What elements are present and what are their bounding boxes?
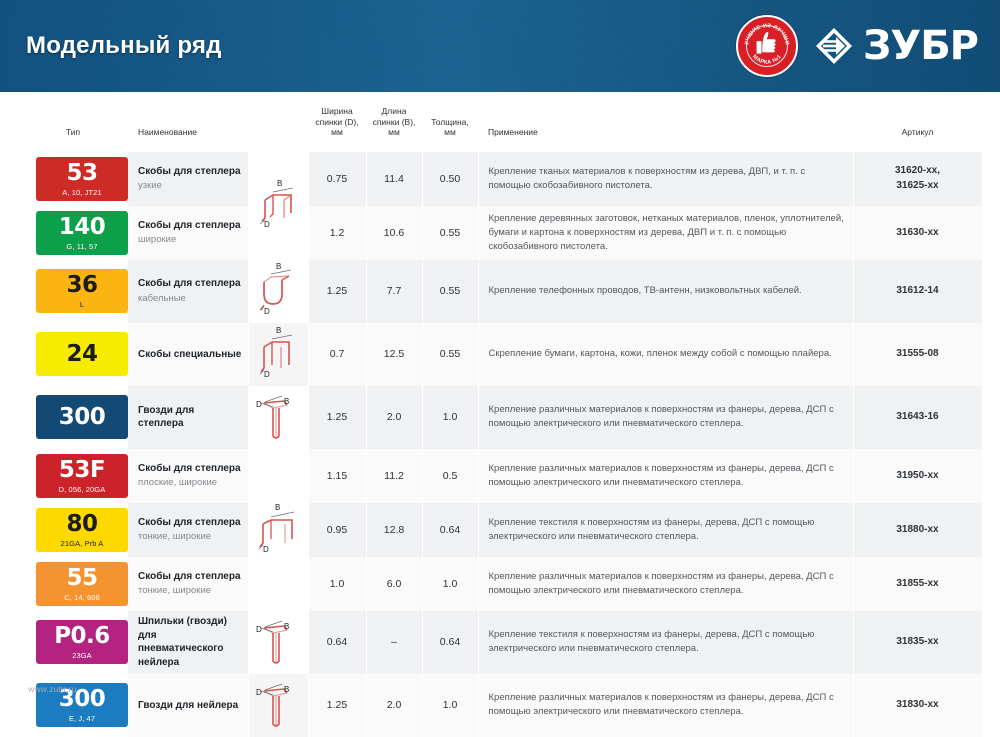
cell-article: 31612-14 [853, 260, 982, 323]
product-name-sub: тонкие, широкие [138, 531, 242, 543]
product-name-sub: плоские, широкие [138, 477, 242, 489]
svg-text:B: B [277, 179, 282, 188]
product-name: Скобы для степлера [138, 570, 242, 584]
cell-article: 31643-16 [853, 386, 982, 449]
cell-width: 0.75 [308, 152, 366, 206]
nail-t-icon: BD [248, 386, 308, 449]
type-badge-sub: 21GA, Prb A [61, 540, 104, 548]
cell-article: 31630-хх [853, 206, 982, 260]
type-badge-code: P0.6 [54, 625, 110, 648]
svg-text:D: D [256, 625, 262, 634]
cell-thickness: 0.55 [422, 260, 478, 323]
cell-thickness: 0.5 [422, 449, 478, 503]
cell-length: 10.6 [366, 206, 422, 260]
cell-article: 31950-хх [853, 449, 982, 503]
brand-name: ЗУБР [863, 26, 978, 66]
cell-type: 53A, 10, JT21 [18, 152, 128, 206]
cell-type: 8021GA, Prb A [18, 503, 128, 557]
product-name: Скобы для степлера [138, 219, 242, 233]
cell-length: 12.5 [366, 323, 422, 386]
brand-logo: ЛУЧШИЕ ИЗ ЛУЧШИХ МАРКА №1 [736, 15, 978, 77]
cell-application: Крепление телефонных проводов, ТВ-антенн… [478, 260, 853, 323]
svg-text:B: B [276, 326, 281, 335]
col-header-type: Тип [18, 98, 128, 152]
type-badge-sub: 23GA [72, 652, 92, 660]
svg-text:D: D [256, 400, 262, 409]
col-header-application: Применение [478, 98, 853, 152]
cell-length: 11.4 [366, 152, 422, 206]
cell-article: 31555-08 [853, 323, 982, 386]
svg-text:B: B [284, 622, 289, 631]
col-header-length-line2: спинки (B), мм [373, 117, 416, 138]
type-badge-sub: C, 14, 606 [64, 594, 100, 602]
type-badge: 24 [36, 332, 128, 376]
cell-name: Скобы для степлераплоские, широкие [128, 449, 248, 503]
cell-length: 11.2 [366, 449, 422, 503]
type-badge: 36L [36, 269, 128, 313]
col-header-thickness-line2: мм [444, 127, 456, 137]
svg-text:B: B [276, 262, 281, 271]
cell-thickness: 0.50 [422, 152, 478, 206]
staple-narrow-icon: BD [248, 152, 308, 260]
cell-name: Скобы для степлераширокие [128, 206, 248, 260]
cell-application: Крепление деревянных заготовок, нетканых… [478, 206, 853, 260]
col-header-width: Ширина спинки (D), мм [308, 98, 366, 152]
type-badge-code: 140 [59, 216, 106, 239]
quality-emblem-icon: ЛУЧШИЕ ИЗ ЛУЧШИХ МАРКА №1 [736, 15, 798, 77]
arrow-diamond-icon [814, 26, 854, 66]
type-badge-sub: E, J, 47 [69, 715, 95, 723]
cell-type: 140G, 11, 57 [18, 206, 128, 260]
col-header-name: Наименование [128, 98, 308, 152]
cell-thickness: 0.64 [422, 503, 478, 557]
type-badge: 300 [36, 395, 128, 439]
cell-width: 0.95 [308, 503, 366, 557]
article-line-1: 31620-хх, [895, 165, 940, 176]
product-name-sub: широкие [138, 234, 242, 246]
cell-type: 36L [18, 260, 128, 323]
type-badge-code: 36 [66, 274, 97, 297]
product-name: Гвозди для степлера [138, 404, 242, 431]
cell-application: Крепление различных материалов к поверхн… [478, 557, 853, 611]
site-url: www.zubr.ru [28, 684, 77, 694]
type-badge-code: 300 [59, 406, 106, 429]
article-line-1: 31855-хх [896, 578, 938, 589]
svg-text:D: D [264, 220, 270, 229]
type-badge: P0.623GA [36, 620, 128, 664]
table-row: 55C, 14, 606Скобы для степлератонкие, ши… [18, 557, 982, 611]
product-name: Скобы для степлера [138, 462, 242, 476]
cell-width: 0.64 [308, 611, 366, 674]
type-badge-sub: D, 056, 20GA [59, 486, 106, 494]
svg-text:МАРКА №1: МАРКА №1 [751, 54, 783, 66]
type-badge: 55C, 14, 606 [36, 562, 128, 606]
nail-t-icon: BD [248, 611, 308, 674]
cell-application: Крепление тканых материалов к поверхност… [478, 152, 853, 206]
product-name-sub: кабельные [138, 293, 242, 305]
article-line-1: 31880-хх [896, 524, 938, 535]
article-line-1: 31835-хх [896, 636, 938, 647]
staple-special-icon: BD [248, 323, 308, 386]
article-line-1: 31630-хх [896, 227, 938, 238]
article-line-1: 31612-14 [896, 285, 938, 296]
cell-type: 300 [18, 386, 128, 449]
cell-type: 53FD, 056, 20GA [18, 449, 128, 503]
cell-type: P0.623GA [18, 611, 128, 674]
table-row: 53FD, 056, 20GAСкобы для степлераплоские… [18, 449, 982, 503]
type-badge-sub: A, 10, JT21 [62, 189, 101, 197]
staple-flat-icon: BD [248, 449, 308, 611]
staple-round-icon: BD [248, 260, 308, 323]
cell-article: 31620-хх,31625-хх [853, 152, 982, 206]
col-header-length-line1: Длина [382, 106, 407, 116]
cell-width: 1.0 [308, 557, 366, 611]
product-name: Шпильки (гвозди) для пневматического ней… [138, 615, 242, 669]
type-badge-code: 80 [66, 513, 97, 536]
col-header-thickness-line1: Толщина, [431, 117, 469, 127]
table-row: 24Скобы специальныеBD0.712.50.55Скреплен… [18, 323, 982, 386]
cell-name: Гвозди для степлера [128, 386, 248, 449]
cell-width: 1.2 [308, 206, 366, 260]
cell-width: 1.15 [308, 449, 366, 503]
table-row: 300Гвозди для степлераBD1.252.01.0Крепле… [18, 386, 982, 449]
table-row: 53A, 10, JT21Скобы для степлераузкиеBD0.… [18, 152, 982, 206]
svg-text:D: D [263, 545, 269, 554]
table-row: 8021GA, Prb AСкобы для степлератонкие, ш… [18, 503, 982, 557]
cell-width: 1.25 [308, 260, 366, 323]
product-name-sub: узкие [138, 180, 242, 192]
cell-article: 31880-хх [853, 503, 982, 557]
cell-length: 2.0 [366, 386, 422, 449]
type-badge-code: 55 [66, 567, 97, 590]
cell-length: 6.0 [366, 557, 422, 611]
cell-length: – [366, 611, 422, 674]
article-line-1: 31555-08 [896, 348, 938, 359]
table-row: 140G, 11, 57Скобы для степлераширокие1.2… [18, 206, 982, 260]
product-name: Скобы для степлера [138, 277, 242, 291]
table-header-row: Тип Наименование Ширина спинки (D), мм Д… [18, 98, 982, 152]
cell-article: 31835-хх [853, 611, 982, 674]
type-badge: 53FD, 056, 20GA [36, 454, 128, 498]
article-line-2: 31625-хх [896, 180, 938, 191]
zubr-wordmark: ЗУБР [814, 26, 978, 66]
cell-name: Скобы для степлеракабельные [128, 260, 248, 323]
cell-width: 1.25 [308, 386, 366, 449]
cell-article: 31855-хх [853, 557, 982, 611]
page-title: Модельный ряд [26, 32, 222, 60]
svg-text:D: D [264, 370, 270, 379]
col-header-thickness: Толщина, мм [422, 98, 478, 152]
type-badge-sub: G, 11, 57 [66, 243, 97, 251]
cell-name: Шпильки (гвозди) для пневматического ней… [128, 611, 248, 674]
cell-thickness: 0.55 [422, 323, 478, 386]
article-line-1: 31950-хх [896, 470, 938, 481]
product-name-sub: тонкие, широкие [138, 585, 242, 597]
svg-text:D: D [264, 307, 270, 316]
cell-application: Крепление различных материалов к поверхн… [478, 449, 853, 503]
type-badge: 8021GA, Prb A [36, 508, 128, 552]
table-row: P0.623GAШпильки (гвозди) для пневматичес… [18, 611, 982, 674]
cell-application: Крепление различных материалов к поверхн… [478, 386, 853, 449]
type-badge-code: 24 [66, 343, 97, 366]
cell-type: 24 [18, 323, 128, 386]
cell-thickness: 0.64 [422, 611, 478, 674]
type-badge-code: 53 [66, 162, 97, 185]
page-footer: www.zubr.ru [0, 666, 1000, 706]
cell-name: Скобы для степлератонкие, широкие [128, 503, 248, 557]
cell-application: Крепление текстиля к поверхностям из фан… [478, 611, 853, 674]
cell-type: 55C, 14, 606 [18, 557, 128, 611]
svg-text:B: B [284, 397, 289, 406]
article-line-1: 31643-16 [896, 411, 938, 422]
cell-length: 7.7 [366, 260, 422, 323]
cell-thickness: 0.55 [422, 206, 478, 260]
table-body: 53A, 10, JT21Скобы для степлераузкиеBD0.… [18, 152, 982, 737]
cell-name: Скобы специальные [128, 323, 248, 386]
product-name: Скобы для степлера [138, 165, 242, 179]
cell-application: Крепление текстиля к поверхностям из фан… [478, 503, 853, 557]
page-header: Модельный ряд ЛУЧШИЕ ИЗ ЛУЧШИХ МАРКА №1 [0, 0, 1000, 92]
col-header-article: Артикул [853, 98, 982, 152]
cell-width: 0.7 [308, 323, 366, 386]
models-table: Тип Наименование Ширина спинки (D), мм Д… [18, 98, 983, 737]
col-header-length: Длина спинки (B), мм [366, 98, 422, 152]
product-name: Скобы для степлера [138, 516, 242, 530]
col-header-width-line2: спинки (D), мм [315, 117, 358, 138]
type-badge: 53A, 10, JT21 [36, 157, 128, 201]
type-badge: 140G, 11, 57 [36, 211, 128, 255]
cell-name: Скобы для степлератонкие, широкие [128, 557, 248, 611]
cell-name: Скобы для степлераузкие [128, 152, 248, 206]
type-badge-sub: L [80, 301, 84, 309]
cell-thickness: 1.0 [422, 386, 478, 449]
table-row: 36LСкобы для степлеракабельныеBD1.257.70… [18, 260, 982, 323]
svg-text:B: B [275, 503, 280, 512]
cell-thickness: 1.0 [422, 557, 478, 611]
col-header-width-line1: Ширина [321, 106, 352, 116]
product-name: Скобы специальные [138, 348, 242, 362]
cell-application: Скрепление бумаги, картона, кожи, пленок… [478, 323, 853, 386]
cell-length: 12.8 [366, 503, 422, 557]
models-sheet: Тип Наименование Ширина спинки (D), мм Д… [0, 98, 1000, 737]
type-badge-code: 53F [59, 459, 105, 482]
